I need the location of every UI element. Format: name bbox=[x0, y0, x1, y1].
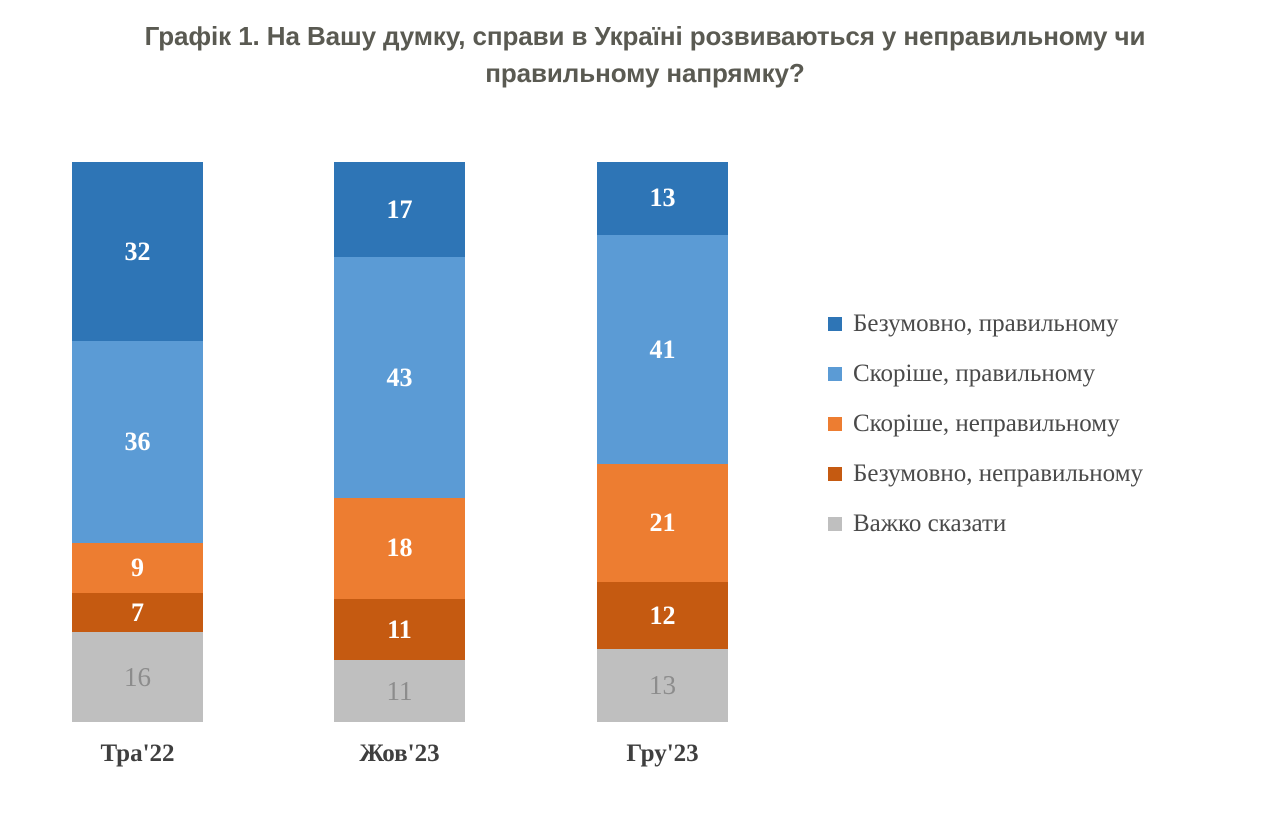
category-label-2: Гру'23 bbox=[597, 740, 728, 768]
legend-swatch-icon bbox=[828, 317, 842, 331]
bar-segment-value: 11 bbox=[387, 678, 413, 705]
bar-segment[interactable]: 17 bbox=[334, 162, 465, 257]
bar-segment[interactable]: 13 bbox=[597, 162, 728, 235]
legend-swatch-icon bbox=[828, 367, 842, 381]
bar-segment[interactable]: 41 bbox=[597, 235, 728, 465]
bar-segment-value: 11 bbox=[387, 617, 412, 643]
bar-segment-value: 12 bbox=[650, 603, 676, 629]
bar-segment-value: 32 bbox=[125, 239, 151, 265]
bar-segment[interactable]: 9 bbox=[72, 543, 203, 593]
bar-segment[interactable]: 11 bbox=[334, 599, 465, 661]
bar-stack: 1743181111 bbox=[334, 162, 465, 722]
bar-segment-value: 36 bbox=[125, 429, 151, 455]
legend-swatch-icon bbox=[828, 517, 842, 531]
bar-group: 1341211213 bbox=[597, 162, 728, 722]
plot-area: 32369716 1743181111 1341211213 Тра'22 Жо… bbox=[0, 0, 820, 816]
legend-swatch-icon bbox=[828, 467, 842, 481]
bar-segment[interactable]: 12 bbox=[597, 582, 728, 649]
bar-segment-value: 18 bbox=[387, 535, 413, 561]
bar-stack: 1341211213 bbox=[597, 162, 728, 722]
bar-segment-value: 41 bbox=[650, 337, 676, 363]
bar-segment-value: 13 bbox=[650, 185, 676, 211]
legend-item[interactable]: Скоріше, неправильному bbox=[828, 399, 1248, 449]
bar-stack: 32369716 bbox=[72, 162, 203, 722]
legend-item[interactable]: Скоріше, правильному bbox=[828, 349, 1248, 399]
bar-group: 1743181111 bbox=[334, 162, 465, 722]
legend-swatch-icon bbox=[828, 417, 842, 431]
legend-label: Скоріше, правильному bbox=[853, 360, 1095, 388]
bar-segment-value: 13 bbox=[649, 672, 676, 699]
bar-segment[interactable]: 13 bbox=[597, 649, 728, 722]
legend-label: Скоріше, неправильному bbox=[853, 410, 1120, 438]
legend-label: Важко сказати bbox=[853, 510, 1006, 538]
legend-item[interactable]: Безумовно, правильному bbox=[828, 299, 1248, 349]
legend-label: Безумовно, неправильному bbox=[853, 460, 1143, 488]
bar-segment[interactable]: 18 bbox=[334, 498, 465, 599]
category-label-1: Жов'23 bbox=[334, 740, 465, 768]
category-label-0: Тра'22 bbox=[72, 740, 203, 768]
bar-group: 32369716 bbox=[72, 162, 203, 722]
bar-segment[interactable]: 11 bbox=[334, 660, 465, 722]
bar-segment[interactable]: 32 bbox=[72, 162, 203, 341]
chart-legend: Безумовно, правильномуСкоріше, правильно… bbox=[828, 299, 1248, 549]
bar-segment[interactable]: 36 bbox=[72, 341, 203, 543]
bar-segment[interactable]: 43 bbox=[334, 257, 465, 498]
bar-segment-value: 16 bbox=[124, 664, 151, 691]
bar-segment[interactable]: 16 bbox=[72, 632, 203, 722]
legend-item[interactable]: Важко сказати bbox=[828, 499, 1248, 549]
bar-segment[interactable]: 21 bbox=[597, 464, 728, 582]
bar-segment-value: 21 bbox=[650, 510, 676, 536]
bar-segment-value: 43 bbox=[387, 365, 413, 391]
bar-segment[interactable]: 7 bbox=[72, 593, 203, 632]
bar-segment-value: 17 bbox=[387, 197, 413, 223]
bar-segment-value: 7 bbox=[131, 600, 144, 626]
legend-label: Безумовно, правильному bbox=[853, 310, 1119, 338]
bar-segment-value: 9 bbox=[131, 555, 144, 581]
legend-item[interactable]: Безумовно, неправильному bbox=[828, 449, 1248, 499]
